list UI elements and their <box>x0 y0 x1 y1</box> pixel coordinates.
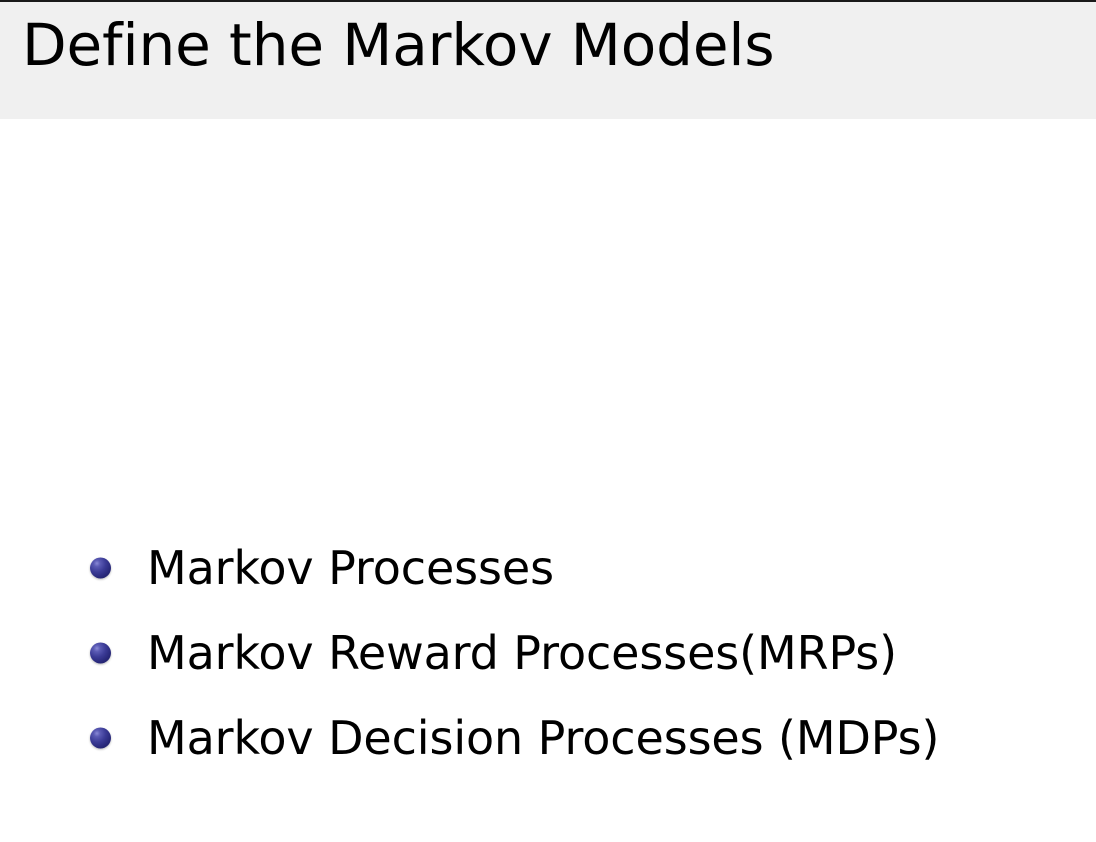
frame-title-band: Define the Markov Models <box>0 2 1096 119</box>
list-item-label: Markov Processes <box>147 545 554 591</box>
presentation-slide: Define the Markov Models Markov Processe… <box>0 0 1096 842</box>
list-item-label: Markov Reward Processes(MRPs) <box>147 630 897 676</box>
list-item: Markov Processes <box>90 525 1050 610</box>
list-item: Markov Decision Processes (MDPs) <box>90 695 1050 780</box>
bullet-sphere-icon <box>90 557 111 578</box>
list-item-label: Markov Decision Processes (MDPs) <box>147 715 939 761</box>
bullet-list: Markov Processes Markov Reward Processes… <box>90 525 1050 780</box>
bullet-sphere-icon <box>90 642 111 663</box>
page-title: Define the Markov Models <box>22 16 775 74</box>
list-item: Markov Reward Processes(MRPs) <box>90 610 1050 695</box>
bullet-sphere-icon <box>90 727 111 748</box>
slide-body: Markov Processes Markov Reward Processes… <box>0 119 1096 842</box>
